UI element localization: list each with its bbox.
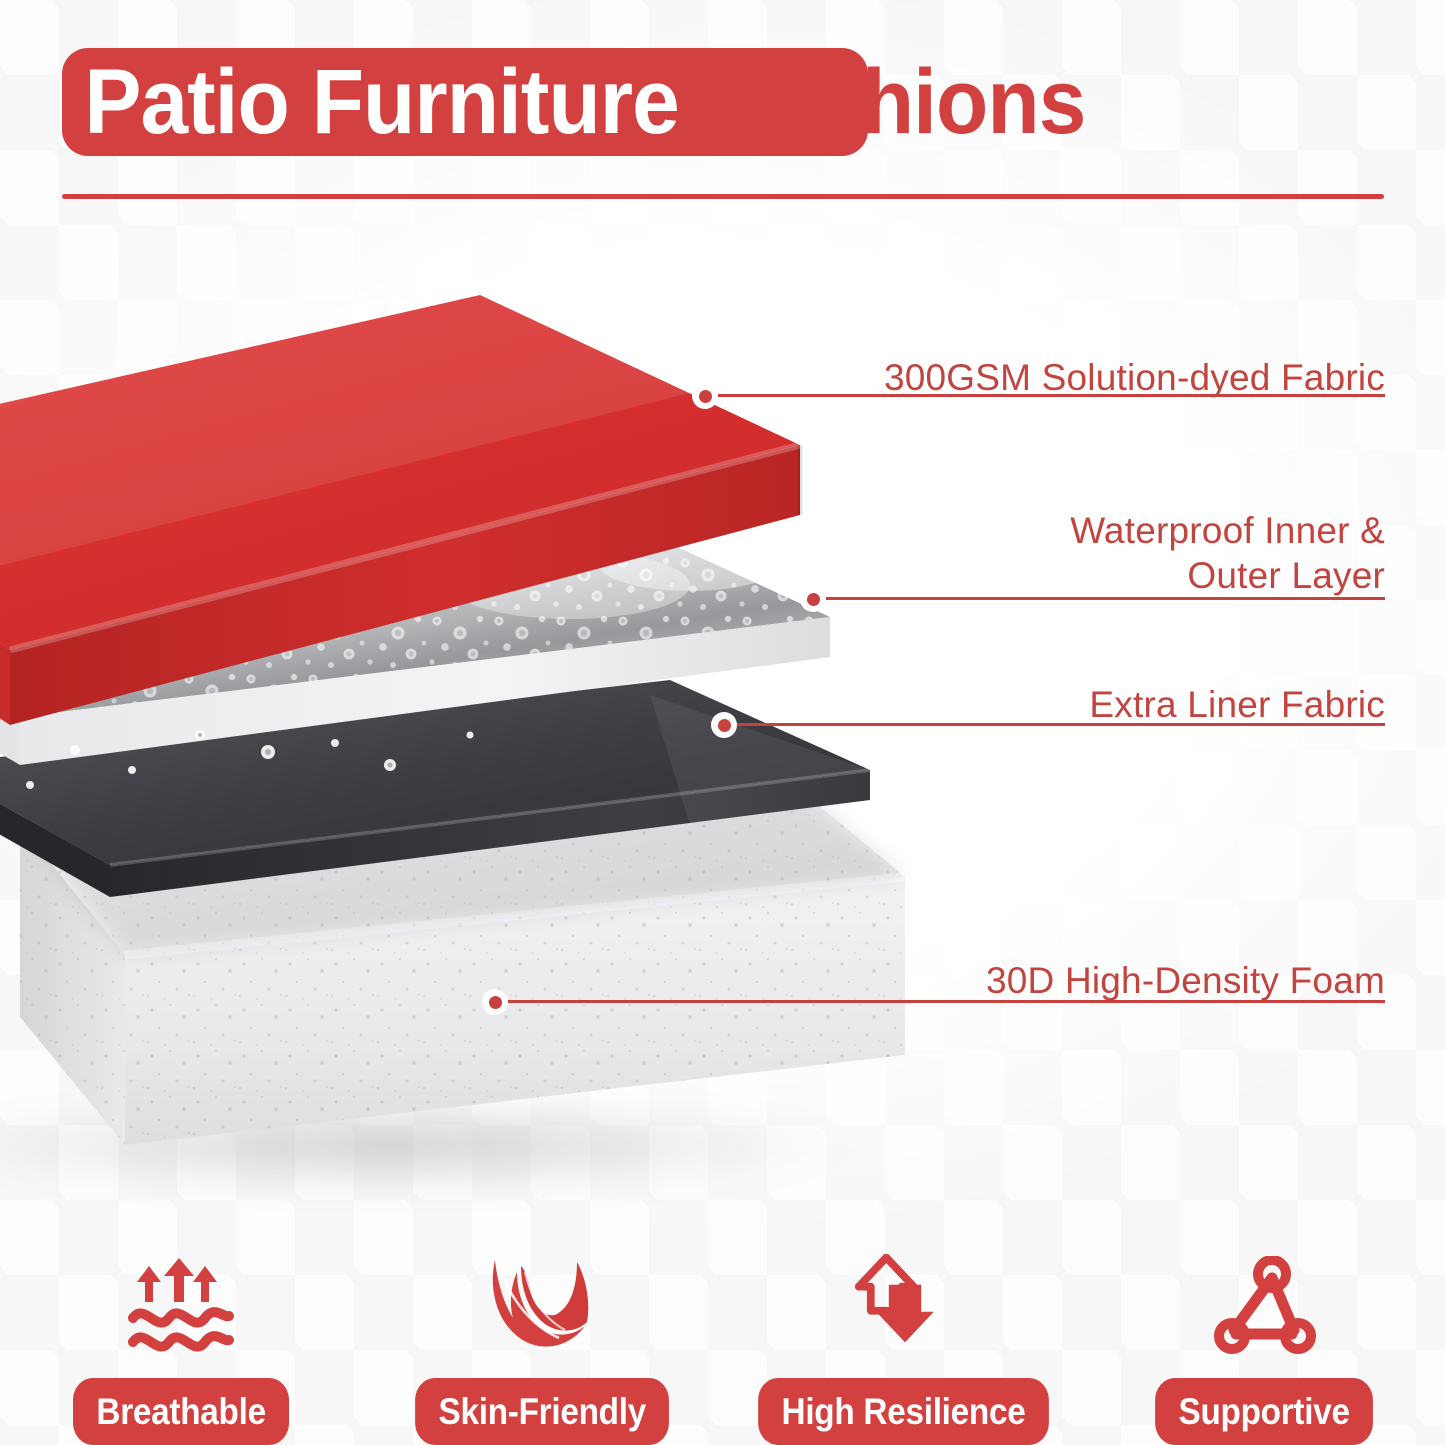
feature-badge-row: Breathable Skin-Friendly H	[0, 1205, 1445, 1445]
feature-label-skin-friendly[interactable]: Skin-Friendly	[415, 1378, 669, 1445]
title-primary: Patio Furniture	[62, 56, 679, 148]
title-secondary: Cushions	[679, 56, 1086, 148]
callout-label-fabric: 300GSM Solution-dyed Fabric	[785, 355, 1385, 400]
callout-label-foam: 30D High-Density Foam	[785, 958, 1385, 1003]
page-title: Patio Furniture Cushions	[0, 44, 1445, 162]
feature-breathable[interactable]: Breathable	[0, 1205, 361, 1445]
callout-dot-fabric	[692, 383, 718, 409]
callout-label-waterproof: Waterproof Inner & Outer Layer	[785, 508, 1385, 598]
feature-high-resilience[interactable]: High Resilience	[723, 1205, 1084, 1445]
callout-dot-liner	[711, 712, 737, 738]
airflow-waves-icon	[127, 1254, 235, 1356]
callout-dot-foam	[482, 989, 508, 1015]
feature-skin-friendly[interactable]: Skin-Friendly	[361, 1205, 722, 1445]
title-text-row: Patio Furniture Cushions	[62, 48, 1299, 156]
title-underline	[62, 194, 1384, 199]
feather-icon	[481, 1254, 603, 1356]
feature-label-breathable[interactable]: Breathable	[73, 1378, 289, 1445]
feature-label-supportive[interactable]: Supportive	[1155, 1378, 1373, 1445]
callout-label-liner: Extra Liner Fabric	[785, 682, 1385, 727]
up-down-arrows-icon	[855, 1254, 951, 1356]
triangle-nodes-icon	[1212, 1254, 1316, 1356]
infographic-stage: Patio Furniture Cushions	[0, 0, 1445, 1445]
feature-label-high-resilience[interactable]: High Resilience	[758, 1378, 1049, 1445]
exploded-cushion-illustration	[0, 265, 1000, 1195]
callout-dot-waterproof	[800, 586, 826, 612]
feature-supportive[interactable]: Supportive	[1084, 1205, 1445, 1445]
